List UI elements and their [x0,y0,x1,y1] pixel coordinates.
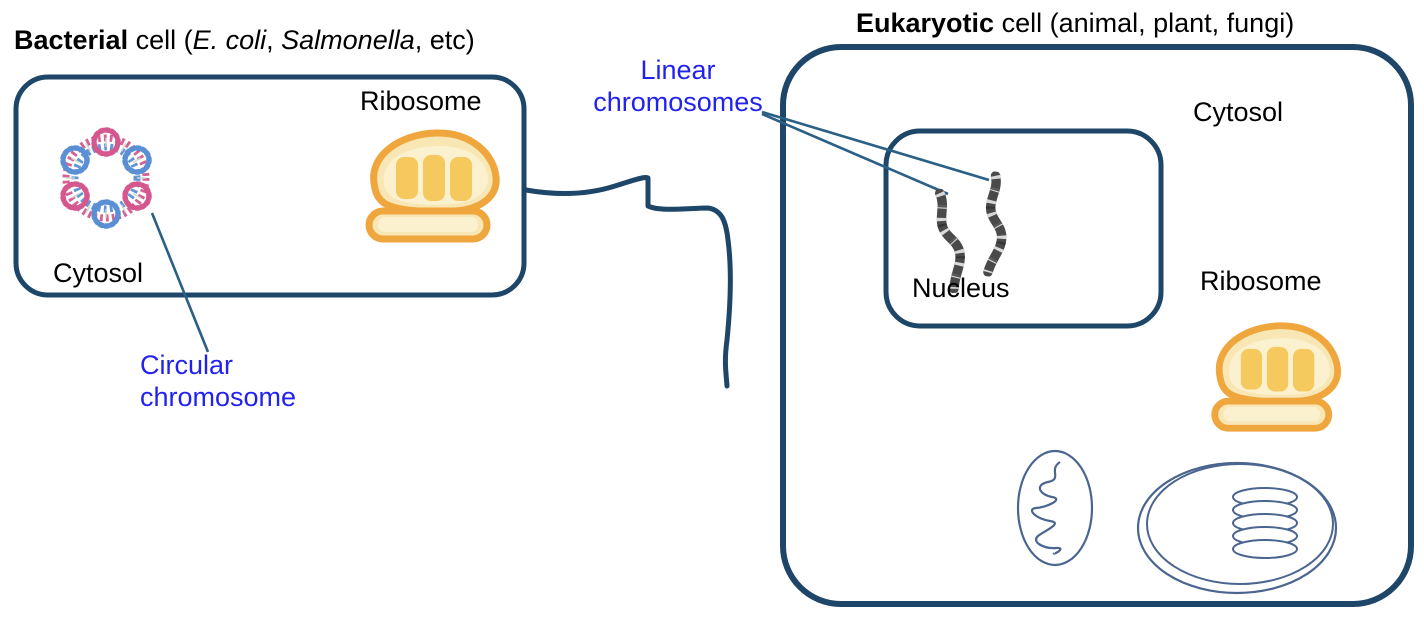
circular-chromosome-label: Circular chromosome [140,350,320,414]
nucleus-label: Nucleus [912,273,1010,304]
linear-chromosomes-label: Linear chromosomes [578,55,778,119]
bacterial-cytosol-label: Cytosol [53,258,143,289]
eukaryotic-cytosol-label: Cytosol [1193,97,1283,128]
bacterial-ribosome-icon [369,133,496,239]
eukaryotic-ribosome-label: Ribosome [1200,266,1322,297]
stacked-vesicle-organelle-icon [1138,463,1336,593]
cell-comparison-diagram: Bacterial cell (E. coli, Salmonella, etc… [0,0,1424,618]
linear-chromosomes-label-line2: chromosomes [578,87,778,119]
hand-drawn-connector-stroke [526,177,730,386]
circular-chromosome-label-line2: chromosome [140,382,320,414]
mitochondrion-icon [1018,451,1092,565]
eukaryotic-ribosome-icon [1215,326,1338,428]
circular-chromosome-label-line1: Circular [140,350,320,382]
bacterial-ribosome-label: Ribosome [360,86,482,117]
linear-chromosomes-label-line1: Linear [578,55,778,87]
